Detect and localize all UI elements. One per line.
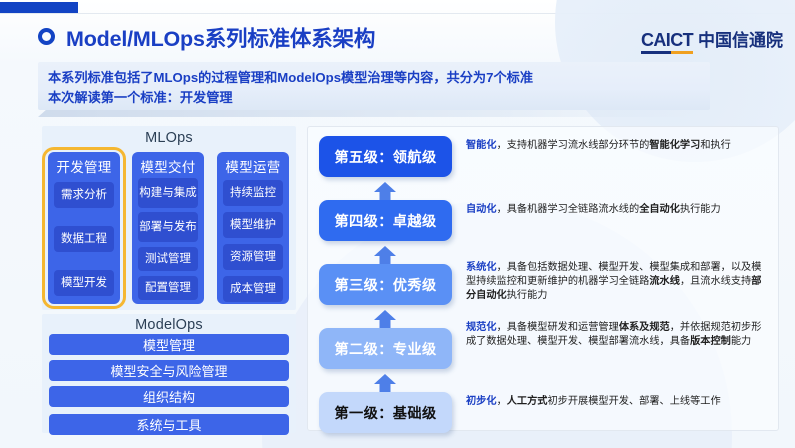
pillar-chip[interactable]: 成本管理 bbox=[223, 276, 283, 302]
mlops-group-title: MLOps bbox=[42, 130, 296, 146]
modelops-group-title: ModelOps bbox=[42, 317, 296, 333]
standards-architecture-diagram: MLOps ModelOps 开发管理需求分析数据工程模型开发模型交付构建与集成… bbox=[42, 126, 296, 431]
arrow-up-icon bbox=[371, 181, 399, 201]
slide-root: Model/MLOps系列标准体系架构 CAICT 中国信通院 本系列标准包括了… bbox=[0, 0, 795, 448]
modelops-bar[interactable]: 模型安全与风险管理 bbox=[49, 360, 289, 381]
pillar-title: 模型交付 bbox=[132, 156, 204, 176]
logo-underline-blue bbox=[641, 51, 671, 54]
pillar-2[interactable]: 模型交付构建与集成部署与发布测试管理配置管理 bbox=[132, 152, 204, 304]
maturity-level-panel: 第五级：领航级智能化，支持机器学习流水线部分环节的智能化学习和执行第四级：卓越级… bbox=[307, 126, 779, 431]
top-accent-bar bbox=[0, 2, 78, 13]
arrow-up-icon bbox=[371, 309, 399, 329]
pillar-title: 模型运营 bbox=[217, 156, 289, 176]
system-tools-bar[interactable]: 系统与工具 bbox=[49, 414, 289, 435]
pillar-3[interactable]: 模型运营持续监控模型维护资源管理成本管理 bbox=[217, 152, 289, 304]
maturity-level-box[interactable]: 第四级：卓越级 bbox=[319, 200, 452, 241]
modelops-bar[interactable]: 模型管理 bbox=[49, 334, 289, 355]
subtitle-banner: 本系列标准包括了MLOps的过程管理和ModelOps模型治理等内容，共分为7个… bbox=[38, 62, 710, 110]
pillar-chip[interactable]: 构建与集成 bbox=[138, 178, 198, 208]
pillar-chip[interactable]: 资源管理 bbox=[223, 244, 283, 270]
maturity-level-description: 自动化，具备机器学习全链路流水线的全自动化执行能力 bbox=[466, 203, 764, 217]
maturity-level-box[interactable]: 第一级：基础级 bbox=[319, 392, 452, 433]
pillar-title: 开发管理 bbox=[48, 156, 120, 176]
maturity-level-description: 规范化，具备模型研发和运营管理体系及规范，并依据规范初步形成了数据处理、模型开发… bbox=[466, 321, 764, 349]
pillar-1[interactable]: 开发管理需求分析数据工程模型开发 bbox=[48, 152, 120, 304]
maturity-level-description: 智能化，支持机器学习流水线部分环节的智能化学习和执行 bbox=[466, 139, 764, 153]
slide-header: Model/MLOps系列标准体系架构 CAICT 中国信通院 bbox=[0, 16, 795, 60]
logo-en-text: CAICT bbox=[641, 30, 693, 54]
modelops-bar[interactable]: 组织结构 bbox=[49, 386, 289, 407]
pillar-chip[interactable]: 测试管理 bbox=[138, 247, 198, 271]
arrow-up-icon bbox=[371, 373, 399, 393]
logo-cn-label: 中国信通院 bbox=[698, 26, 783, 51]
maturity-level-box[interactable]: 第三级：优秀级 bbox=[319, 264, 452, 305]
maturity-level-description: 系统化，具备包括数据处理、模型开发、模型集成和部署，以及模型持续监控和更新维护的… bbox=[466, 261, 764, 302]
subtitle-line-2: 本次解读第一个标准：开发管理 bbox=[48, 91, 233, 104]
logo-en-label: CAICT bbox=[641, 30, 693, 50]
pillar-chip[interactable]: 持续监控 bbox=[223, 180, 283, 206]
pillar-chip[interactable]: 配置管理 bbox=[138, 276, 198, 300]
maturity-level-box[interactable]: 第二级：专业级 bbox=[319, 328, 452, 369]
logo-underline-orange bbox=[671, 51, 693, 54]
pillar-chip[interactable]: 部署与发布 bbox=[138, 212, 198, 242]
pillar-chip[interactable]: 数据工程 bbox=[54, 226, 114, 252]
subtitle-line-1: 本系列标准包括了MLOps的过程管理和ModelOps模型治理等内容，共分为7个… bbox=[48, 71, 533, 84]
pillar-chip[interactable]: 需求分析 bbox=[54, 182, 114, 208]
maturity-level-box[interactable]: 第五级：领航级 bbox=[319, 136, 452, 177]
pillar-chip[interactable]: 模型维护 bbox=[223, 212, 283, 238]
arrow-up-icon bbox=[371, 245, 399, 265]
maturity-level-description: 初步化，人工方式初步开展模型开发、部署、上线等工作 bbox=[466, 395, 764, 409]
page-title: Model/MLOps系列标准体系架构 bbox=[66, 22, 375, 53]
caict-logo: CAICT 中国信通院 bbox=[641, 26, 783, 54]
pillar-chip[interactable]: 模型开发 bbox=[54, 270, 114, 296]
ring-icon bbox=[38, 28, 55, 45]
